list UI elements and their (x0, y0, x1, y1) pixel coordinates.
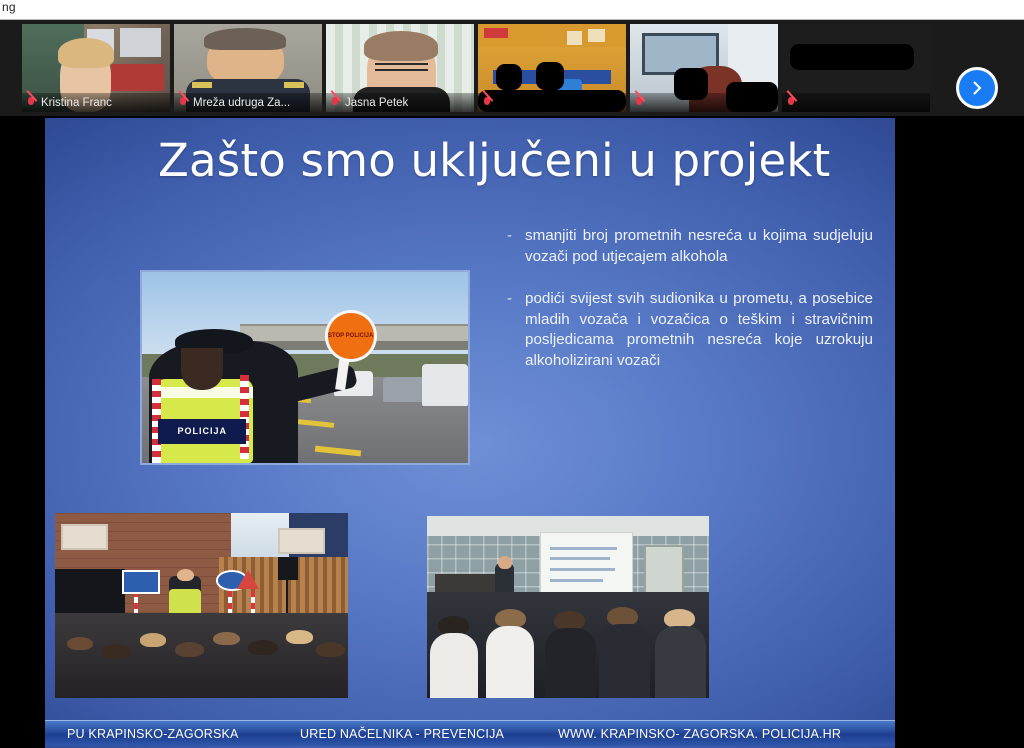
audience-person (430, 633, 478, 698)
audience-head (248, 640, 277, 655)
participant-tile-2[interactable]: Jasna Petek (326, 24, 474, 112)
footer-left-text: PU KRAPINSKO-ZAGORSKA (67, 727, 239, 741)
muted-mic-icon (786, 96, 797, 109)
audience-head (213, 632, 239, 646)
redaction-block (536, 62, 564, 90)
photo-pedestrian-crossing-sign (122, 570, 160, 594)
participant-name-2: Jasna Petek (345, 97, 408, 109)
audience-head (438, 616, 469, 635)
audience-person (545, 628, 596, 698)
participant-namebar-3 (478, 93, 626, 112)
audience-person (599, 624, 650, 698)
bullet-marker: - (507, 226, 512, 267)
screen-text-line (550, 568, 616, 571)
photo-warning-sign (237, 570, 259, 589)
photo-audience (427, 592, 709, 698)
participant-tile-3[interactable] (478, 24, 626, 112)
slide-image-police-traffic-stop: POLICIJA STOP POLICIJA (140, 270, 470, 465)
bullet-text: podići svijest svih sudionika u prometu,… (525, 289, 873, 371)
participant-namebar-0: Kristina Franc (22, 93, 170, 112)
photo-vest-checker (240, 375, 249, 459)
audience-head (175, 642, 204, 657)
participant-tile-0[interactable]: Kristina Franc (22, 24, 170, 112)
gallery-next-button[interactable] (956, 67, 998, 109)
photo-basketball-hoop (278, 528, 325, 554)
participant-tile-1[interactable]: Mreža udruga Za... (174, 24, 322, 112)
screen-text-line (550, 557, 610, 560)
bullet-item: - smanjiti broj prometnih nesreća u koji… (507, 226, 873, 267)
slide-bullet-list: - smanjiti broj prometnih nesreća u koji… (507, 226, 873, 393)
bullet-marker: - (507, 289, 512, 371)
participant-tile-4[interactable] (630, 24, 778, 112)
meeting-window: ng Kristina Franc (0, 0, 1024, 748)
screen-text-line (550, 547, 617, 550)
footer-center-text: URED NAČELNIKA - PREVENCIJA (300, 727, 504, 741)
photo-officer-hair (181, 348, 223, 390)
muted-mic-icon (330, 96, 341, 109)
photo-speaker (278, 557, 299, 579)
participant-namebar-5 (782, 93, 930, 112)
photo-vehicle (422, 364, 468, 406)
window-top-bar: ng (0, 0, 1024, 20)
participant-namebar-1: Mreža udruga Za... (174, 93, 322, 112)
photo-stop-paddle: STOP POLICIJA (325, 310, 377, 362)
muted-mic-icon (178, 96, 189, 109)
photo-basketball-hoop (61, 524, 108, 550)
muted-mic-icon (482, 96, 493, 109)
photo-audience (55, 613, 348, 698)
audience-head (316, 642, 345, 657)
slide-image-lecture-hall (427, 516, 709, 698)
slide-title: Zašto smo uključeni u projekt (158, 134, 858, 187)
audience-head (67, 637, 93, 651)
participant-gallery-strip: Kristina Franc Mreža udruga Za... (0, 20, 1024, 116)
bullet-text: smanjiti broj prometnih nesreća u kojima… (525, 226, 873, 267)
audience-head (286, 630, 312, 644)
participant-name-1: Mreža udruga Za... (193, 97, 290, 109)
footer-right-text: WWW. KRAPINSKO- ZAGORSKA. POLICIJA.HR (558, 727, 841, 741)
redaction-block (496, 64, 522, 90)
redaction-block (790, 44, 914, 70)
participant-namebar-4 (630, 93, 778, 112)
muted-mic-icon (26, 96, 37, 109)
screen-text-line (550, 579, 603, 582)
presentation-slide: Zašto smo uključeni u projekt - smanjiti… (45, 118, 895, 748)
photo-presenter-head (498, 556, 512, 569)
photo-projection-screen (540, 532, 633, 594)
audience-person (486, 626, 534, 698)
slide-image-gym-presentation (55, 513, 348, 698)
audience-head (140, 633, 166, 647)
muted-mic-icon (634, 96, 645, 109)
chevron-right-icon (969, 80, 985, 96)
photo-vehicle (383, 377, 425, 402)
photo-presenter-head (177, 569, 195, 582)
participant-namebar-2: Jasna Petek (326, 93, 474, 112)
bullet-item: - podići svijest svih sudionika u promet… (507, 289, 873, 371)
audience-head (102, 644, 131, 659)
top-text-fragment: ng (2, 0, 16, 14)
participant-tile-5[interactable] (782, 24, 930, 112)
photo-vest-label: POLICIJA (158, 419, 246, 444)
slide-footer-bar: PU KRAPINSKO-ZAGORSKA URED NAČELNIKA - P… (45, 720, 895, 746)
audience-person (655, 626, 706, 698)
participant-name-0: Kristina Franc (41, 97, 112, 109)
